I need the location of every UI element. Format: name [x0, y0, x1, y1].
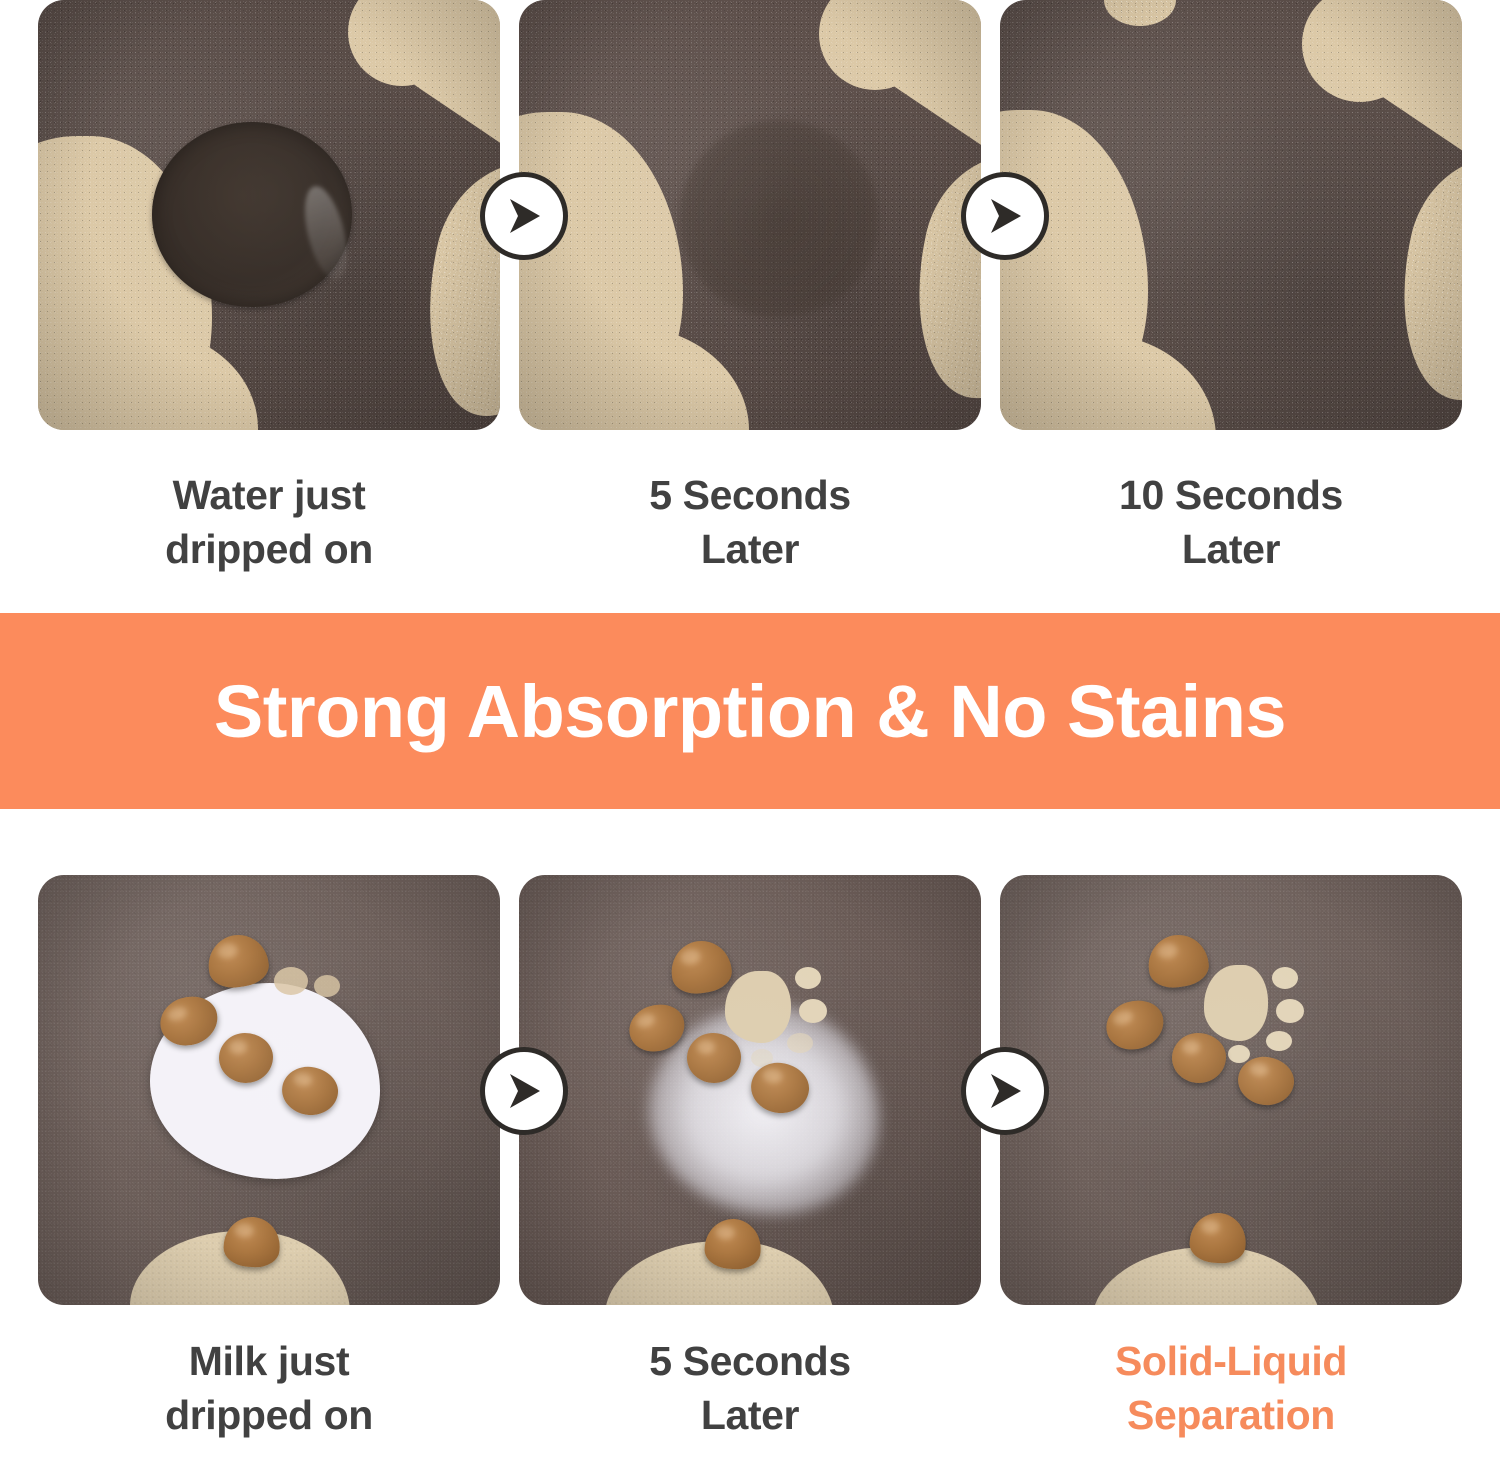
panel-vignette — [38, 0, 500, 430]
water-panel-2-image — [519, 0, 981, 430]
headline-text: Strong Absorption & No Stains — [214, 669, 1286, 754]
headline-banner: Strong Absorption & No Stains — [0, 613, 1500, 809]
arrow-right-icon-1 — [480, 172, 568, 260]
water-panel-1-caption: Water just dripped on — [38, 468, 500, 576]
arrow-right-icon-4 — [961, 1047, 1049, 1135]
water-test-photo-row — [0, 0, 1500, 430]
panel-vignette — [1000, 0, 1462, 430]
panel-vignette — [1000, 875, 1462, 1305]
panel-vignette — [519, 875, 981, 1305]
milk-test-photo-row — [0, 875, 1500, 1305]
milk-panel-1-caption: Milk just dripped on — [38, 1334, 500, 1442]
milk-test-caption-row: Milk just dripped on 5 Seconds Later Sol… — [0, 1334, 1500, 1464]
water-panel-1-image — [38, 0, 500, 430]
water-panel-2-caption: 5 Seconds Later — [519, 468, 981, 576]
panel-vignette — [519, 0, 981, 430]
milk-panel-3-caption: Solid-Liquid Separation — [1000, 1334, 1462, 1442]
water-test-caption-row: Water just dripped on 5 Seconds Later 10… — [0, 468, 1500, 598]
water-panel-3-image — [1000, 0, 1462, 430]
milk-panel-2-image — [519, 875, 981, 1305]
milk-panel-1-image — [38, 875, 500, 1305]
milk-panel-3-image — [1000, 875, 1462, 1305]
water-panel-3-caption: 10 Seconds Later — [1000, 468, 1462, 576]
milk-panel-2-caption: 5 Seconds Later — [519, 1334, 981, 1442]
panel-vignette — [38, 875, 500, 1305]
arrow-right-icon-3 — [480, 1047, 568, 1135]
arrow-right-icon-2 — [961, 172, 1049, 260]
